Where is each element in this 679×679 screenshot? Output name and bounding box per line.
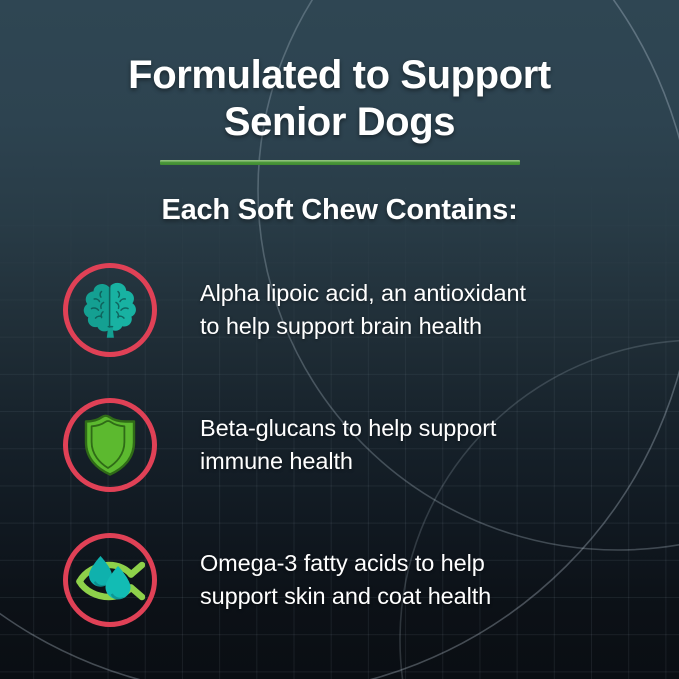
- benefit-row: Omega-3 fatty acids to help support skin…: [63, 528, 631, 632]
- icon-badge-brain: [63, 263, 157, 357]
- icon-badge-fish-droplets: [63, 533, 157, 627]
- benefit-text: Beta-glucans to help support immune heal…: [200, 412, 496, 478]
- icon-badge-shield: [63, 398, 157, 492]
- benefit-text: Omega-3 fatty acids to help support skin…: [200, 547, 491, 613]
- shield-icon: [83, 414, 137, 476]
- title-divider: [160, 160, 520, 165]
- subtitle: Each Soft Chew Contains:: [0, 192, 679, 228]
- fish-droplets-icon: [75, 554, 145, 606]
- benefit-text: Alpha lipoic acid, an antioxidant to hel…: [200, 277, 526, 343]
- benefit-row: Beta-glucans to help support immune heal…: [63, 393, 631, 497]
- page-title: Formulated to Support Senior Dogs: [0, 52, 679, 146]
- brain-icon: [79, 281, 141, 339]
- product-benefits-graphic: Formulated to Support Senior Dogs Each S…: [0, 0, 679, 679]
- benefit-row: Alpha lipoic acid, an antioxidant to hel…: [63, 258, 631, 362]
